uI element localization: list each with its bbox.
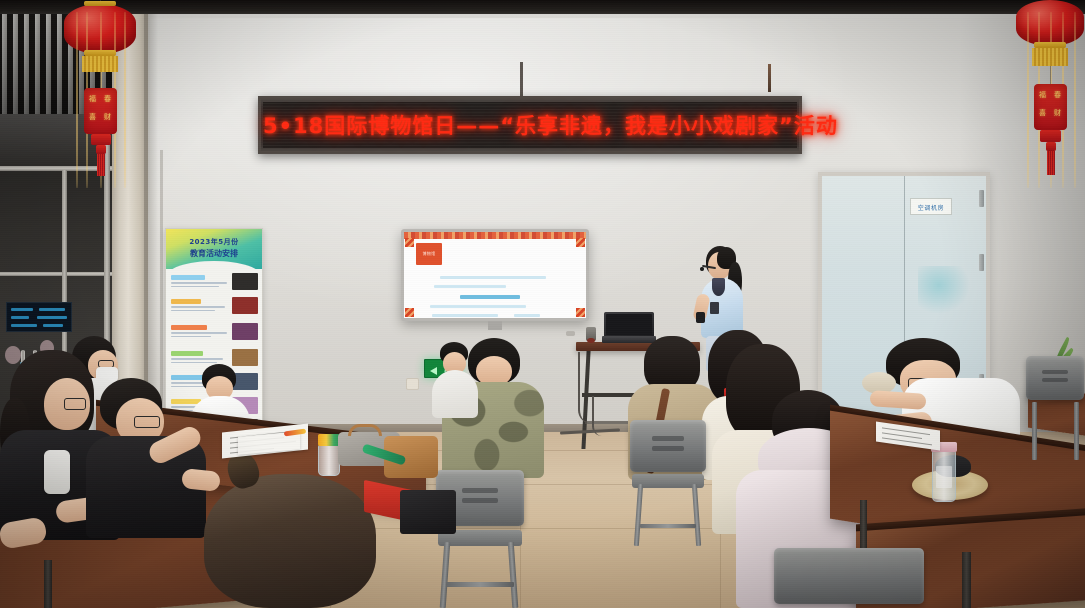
woman-black-glasses-icon (64, 398, 86, 410)
lantern-glyph-1: 福 (89, 96, 96, 103)
lantern-glyph-5: 福 (1039, 92, 1046, 99)
black-bag-front[interactable] (400, 490, 456, 534)
slide-top-border (404, 232, 586, 239)
interior-info-sign (6, 302, 72, 332)
poster-thumb-2 (232, 297, 258, 314)
display-stand (488, 321, 502, 330)
banner-mount (520, 62, 523, 98)
slide-screen: 博物馆 (404, 232, 586, 318)
lantern-panel-left: 福 春 喜 财 (84, 88, 117, 134)
slide-text-line-1 (440, 276, 546, 279)
slide-text-line-6 (514, 314, 540, 317)
led-banner: 5•18国际博物馆日——“乐享非遗，我是小小戏剧家”活动 (258, 96, 802, 154)
desk-cable-a (578, 352, 592, 424)
poster-thumb-3 (232, 323, 258, 340)
chair-right-rear[interactable] (1026, 356, 1085, 466)
lantern-left: 福 春 喜 财 (56, 0, 146, 200)
front-girl-hair (204, 474, 376, 608)
lantern-right: 福 春 喜 财 (1012, 0, 1085, 200)
table-leg-b (962, 552, 971, 608)
poster-thumb-1 (232, 273, 258, 290)
lantern-glyph-7: 喜 (1039, 110, 1046, 117)
slide-corner-tr (576, 238, 585, 247)
bottle-label (936, 466, 952, 488)
wall-antenna (768, 64, 771, 92)
lantern-glyph-2: 春 (104, 96, 111, 103)
door-hinge-mid (979, 254, 984, 271)
door-watermark-stain (918, 266, 970, 314)
child-forearm (870, 390, 927, 410)
lantern-glyph-4: 财 (104, 114, 111, 121)
slide-text-line-5 (432, 314, 498, 317)
cable-port (566, 331, 575, 336)
slide-logo: 博物馆 (416, 243, 442, 265)
lantern-fringe-right (1032, 48, 1068, 66)
water-bottle-colorful-cap[interactable] (318, 444, 340, 476)
chair-back-panel-4 (774, 548, 924, 604)
boy-mid-torso (432, 370, 478, 418)
door-room-sign-text: 空调机房 (911, 203, 951, 212)
presenter-neck-scarf (712, 278, 725, 296)
girl-ponytail-front (198, 452, 398, 608)
lantern-fringe-left (82, 56, 118, 72)
slide-corner-bl (405, 308, 414, 317)
led-banner-text: 5•18国际博物馆日——“乐享非遗，我是小小戏剧家”活动 (263, 110, 797, 140)
boy-black-glasses-icon (134, 416, 160, 428)
computer-mouse[interactable] (587, 338, 595, 343)
slide-logo-label: 博物馆 (416, 251, 442, 257)
lantern-glyph-8: 财 (1054, 110, 1061, 117)
woman-black-hanging-mask (44, 450, 70, 494)
lantern-glyph-6: 春 (1054, 92, 1061, 99)
door-room-sign: 空调机房 (910, 198, 952, 215)
slide-text-line-2 (434, 285, 506, 288)
poster-subtitle: 教育活动安排 (166, 248, 262, 259)
laptop-screen[interactable] (606, 314, 652, 335)
wall-power-outlet[interactable] (406, 378, 419, 390)
slide-corner-br (576, 308, 585, 317)
presentation-clicker[interactable] (696, 312, 705, 323)
chair-pink-hoodie-seat[interactable] (774, 548, 924, 608)
bottle-cap-colorful[interactable] (318, 434, 340, 446)
photo-scene: 福 春 喜 财 福 春 喜 财 5•18国际博物馆日——“乐享非遗，我是 (0, 0, 1085, 608)
wall-display: 博物馆 (401, 229, 589, 321)
felt-handbag-handle (348, 424, 382, 436)
slide-corner-tl (405, 238, 414, 247)
presenter-name-badge (710, 302, 719, 314)
door-hinge-top (979, 190, 984, 207)
chair-mid-right[interactable] (628, 420, 710, 546)
table-leg-c (860, 500, 867, 550)
lantern-glyph-3: 喜 (89, 114, 96, 121)
led-matrix: 5•18国际博物馆日——“乐享非遗，我是小小戏剧家”活动 (263, 102, 797, 148)
slide-text-line-4 (430, 305, 526, 308)
poster-title: 2023年5月份 (166, 237, 262, 247)
headset-mic-tip (700, 267, 704, 271)
front-left-hand (0, 516, 48, 550)
lantern-panel-right: 福 春 喜 财 (1034, 84, 1067, 130)
slide-text-line-3 (460, 295, 520, 299)
boy-white-tee-mid (430, 342, 482, 418)
woman-pink-left-front (0, 520, 150, 608)
